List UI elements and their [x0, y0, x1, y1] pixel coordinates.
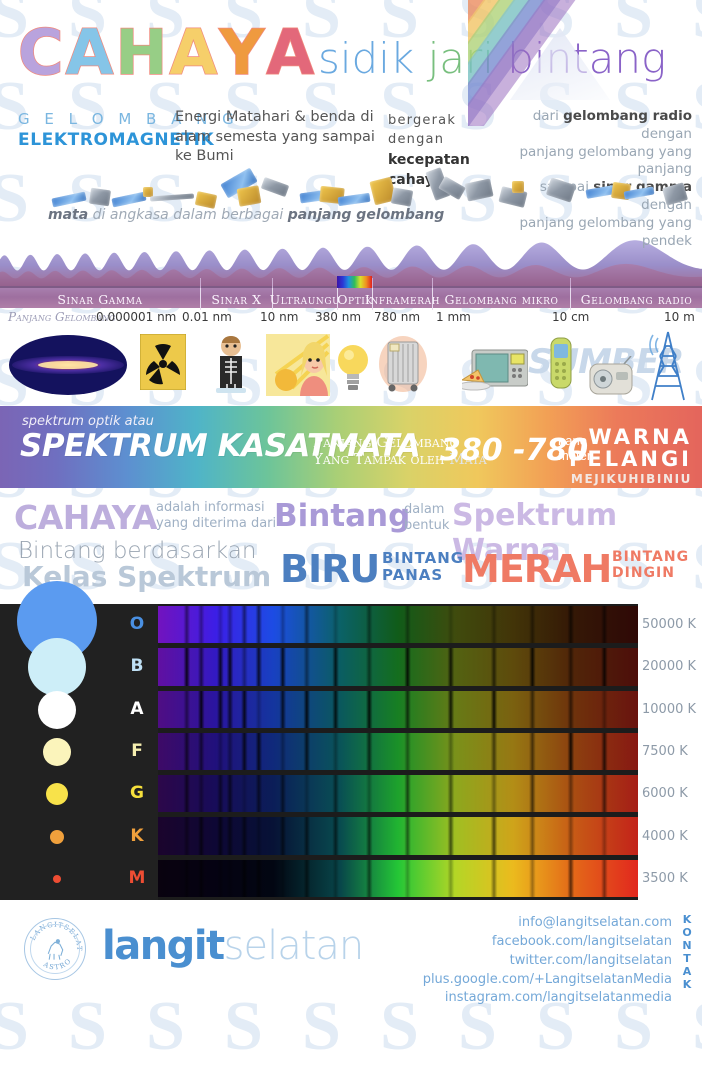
dingin-l2: DINGIN	[612, 566, 689, 582]
absorption-lines	[158, 733, 638, 770]
spectrum-strip-M[interactable]	[158, 860, 638, 897]
mata-di-angkasa-caption: mata di angkasa dalam berbagai panjang g…	[48, 207, 444, 223]
band-tick	[372, 278, 373, 288]
wavelength-scale-row: Panjang Gelombang 0.000001 nm0.01 nm10 n…	[0, 310, 702, 330]
kontak-letter: K	[680, 979, 694, 992]
title-letter-y: Y	[219, 22, 266, 84]
warna-pelangi-label: WARNA PELANGI MEJIKUHIBINIU	[569, 426, 692, 486]
lightbulb-icon	[336, 338, 370, 396]
absorption-lines	[158, 606, 638, 643]
title-letter-a: A	[266, 22, 316, 84]
mata-text: di angkasa dalam berbagai	[88, 207, 288, 223]
kontak-letter: N	[680, 940, 694, 953]
brand-bold: langit	[102, 923, 224, 969]
antenna-tower-icon	[640, 330, 696, 402]
band-ultraungu[interactable]: Ultraungu	[272, 288, 337, 310]
temperature-label-O: 50000 K	[638, 617, 702, 632]
kontak-letter: A	[680, 966, 694, 979]
wavelength-value: 0.000001 nm	[96, 310, 176, 324]
warna-line1: WARNA	[569, 426, 692, 448]
wavelength-value: 10 m	[664, 310, 695, 324]
star-class-G	[46, 783, 68, 805]
temperature-label-K: 4000 K	[638, 829, 702, 844]
energi-matahari-text: Energi Matahari & benda di alam semesta …	[175, 108, 375, 167]
mata-bold1: mata	[48, 207, 88, 223]
class-letter-G: G	[118, 783, 156, 803]
contact-line[interactable]: facebook.com/langitselatan	[423, 933, 672, 952]
spectra-strips	[158, 604, 638, 900]
subtitle-word-sidik: sidik	[318, 34, 428, 83]
title-letter-a: A	[169, 22, 219, 84]
satellite-icon	[464, 178, 493, 201]
svg-text:LANGITSELATAN: LANGITSELATAN	[25, 919, 83, 951]
panas-l1: BINTANG	[382, 550, 464, 567]
radio-b1: gelombang radio	[563, 108, 692, 124]
wavelength-value: 10 nm	[260, 310, 298, 324]
class-letter-B: B	[118, 656, 156, 676]
radio-t2: dengan	[641, 126, 692, 142]
heater-icon	[378, 334, 428, 396]
pg-l1a: Panjang	[313, 433, 376, 451]
dingin-l1: BINTANG	[612, 550, 689, 566]
satellite-icon	[111, 192, 146, 208]
dalam-l1: dalam	[404, 502, 449, 518]
svg-text:ASTRO: ASTRO	[41, 956, 73, 971]
contact-list: info@langitselatan.comfacebook.com/langi…	[423, 914, 672, 1008]
brand-wordmark: langitselatan	[102, 926, 363, 966]
radio-t1: dari	[533, 108, 563, 124]
page-title: CAHAYA	[18, 22, 316, 84]
wavelength-value: 0.01 nm	[182, 310, 232, 324]
temperature-label-F: 7500 K	[638, 744, 702, 759]
temperature-label-A: 10000 K	[638, 702, 702, 717]
class-letter-O: O	[118, 614, 156, 634]
spectrum-strip-B[interactable]	[158, 648, 638, 685]
bergerak-light-text: bergerak dengan	[388, 112, 508, 150]
footer: LANGITSELATAN ASTRO langitselatan info@l…	[0, 900, 702, 1000]
satellite-icon	[391, 187, 413, 206]
wavelength-value: 380 nm	[315, 310, 361, 324]
band-tick	[432, 278, 433, 288]
band-gelombang-radio[interactable]: Gelombang radio	[570, 288, 702, 310]
temperature-label-G: 6000 K	[638, 786, 702, 801]
absorption-lines	[158, 691, 638, 728]
statement-biru: BIRU	[280, 547, 379, 591]
intro-text-row: G E L O M B A N G ELEKTROMAGNETIK Energi…	[0, 100, 702, 172]
statement-bintang-dingin: BINTANG DINGIN	[612, 550, 689, 581]
absorption-lines	[158, 860, 638, 897]
wavelength-value: 1 mm	[436, 310, 471, 324]
statement-merah: MERAH	[462, 547, 611, 591]
kontak-vertical-label: KONTAK	[680, 914, 694, 992]
spektrum-optik-label: spektrum optik atau	[22, 414, 154, 429]
wavelength-value: 10 cm	[552, 310, 589, 324]
statement-bintang: Bintang	[274, 498, 410, 534]
infographic-page: SSSSSSSSSSSSSSSSSSSSSSSSSSSSSSSSSSSSSSSS…	[0, 0, 702, 1000]
title-letter-c: C	[18, 22, 66, 84]
star-class-M	[53, 875, 61, 883]
satellite-icon	[546, 177, 576, 202]
chart-left-panel: OBAFGKM	[0, 604, 158, 900]
em-sources-row: SUMBER	[0, 328, 702, 406]
mejikuhibiniu-label: MEJIKUHIBINIU	[569, 472, 692, 486]
satellite-icon	[512, 181, 524, 193]
warna-line2: PELANGI	[569, 448, 692, 470]
visible-spectrum-banner: spektrum optik atau SPEKTRUM KASATMATA P…	[0, 406, 702, 488]
watermark-letter: S	[302, 992, 341, 1062]
statement-adalah-informasi: adalah informasi yang diterima dari	[156, 500, 276, 533]
kontak-letter: T	[680, 953, 694, 966]
satellite-icon	[89, 188, 111, 207]
temperature-column: 50000 K20000 K10000 K7500 K6000 K4000 K3…	[638, 604, 702, 900]
band-gelombang-mikro[interactable]: Gelombang mikro	[432, 288, 570, 310]
pg-l2a: Yang Tampak oleh	[313, 450, 449, 468]
panas-l2: PANAS	[382, 567, 464, 584]
absorption-lines	[158, 817, 638, 854]
statement-cahaya: CAHAYA	[14, 498, 157, 537]
absorption-lines	[158, 648, 638, 685]
spectral-class-chart: OBAFGKM 50000 K20000 K10000 K7500 K6000 …	[0, 604, 702, 900]
xray-person-icon	[208, 334, 254, 396]
mata-bold2: panjang gelombang	[288, 207, 445, 223]
class-letter-K: K	[118, 826, 156, 846]
satellite-icon	[51, 192, 86, 208]
seal-svg: LANGITSELATAN ASTRO	[25, 919, 85, 979]
satellite-icon	[261, 177, 290, 197]
adalah-l1: adalah informasi	[156, 500, 276, 516]
langitselatan-seal-logo: LANGITSELATAN ASTRO	[24, 918, 86, 980]
contact-line[interactable]: plus.google.com/+LangitselatanMedia	[423, 971, 672, 990]
uv-sun-person-icon	[266, 334, 330, 396]
gamma-sky-map-icon	[8, 334, 128, 396]
microwave-oven-icon	[462, 340, 528, 394]
star-class-F	[43, 738, 71, 766]
temperature-label-B: 20000 K	[638, 659, 702, 674]
contact-line[interactable]: twitter.com/langitselatan	[423, 952, 672, 971]
spectrum-strip-A[interactable]	[158, 691, 638, 728]
watermark-letter: S	[380, 992, 419, 1062]
class-letter-F: F	[118, 741, 156, 761]
band-tick	[272, 278, 273, 288]
watermark-letter: S	[0, 992, 29, 1062]
optik-rainbow-strip	[337, 276, 372, 288]
band-inframerah[interactable]: Inframerah	[372, 288, 432, 310]
watermark-letter: S	[224, 992, 263, 1062]
star-class-B	[28, 638, 86, 696]
spectrum-strip-F[interactable]	[158, 733, 638, 770]
band-sinar-gamma[interactable]: Sinar Gamma	[0, 288, 200, 310]
statement-dalam-bentuk: dalam bentuk	[404, 502, 449, 535]
contact-line[interactable]: info@langitselatan.com	[423, 914, 672, 933]
star-size-column	[0, 604, 115, 900]
wavelength-value: 780 nm	[374, 310, 420, 324]
class-letter-A: A	[118, 699, 156, 719]
star-class-A	[38, 691, 76, 729]
satellite-icon	[662, 182, 688, 205]
watermark-letter: S	[68, 992, 107, 1062]
brand-light: selatan	[224, 923, 364, 969]
band-sinar-x[interactable]: Sinar X	[200, 288, 272, 310]
statements-section: CAHAYA adalah informasi yang diterima da…	[0, 492, 702, 598]
satellite-icon	[237, 185, 262, 207]
contact-line[interactable]: instagram.com/langitselatanmedia	[423, 989, 672, 1008]
temperature-label-M: 3500 K	[638, 871, 702, 886]
radiation-symbol-icon	[140, 334, 186, 390]
band-tick	[570, 278, 571, 288]
watermark-letter: S	[692, 992, 702, 1062]
title-letter-a: A	[66, 22, 116, 84]
class-letter-M: M	[118, 868, 156, 888]
adalah-l2: yang diterima dari	[156, 516, 276, 532]
dalam-l2: bentuk	[404, 518, 449, 534]
star-class-K	[50, 830, 64, 844]
em-spectrum-band-bar: Sinar GammaSinar XUltraunguOptikInframer…	[0, 286, 702, 308]
absorption-lines	[158, 775, 638, 812]
satellites-row: mata di angkasa dalam berbagai panjang g…	[0, 165, 702, 227]
spectrum-strip-G[interactable]	[158, 775, 638, 812]
band-tick	[200, 278, 201, 288]
header: CAHAYA sidik jari bintang	[0, 0, 702, 100]
spectrum-strip-O[interactable]	[158, 606, 638, 643]
kontak-letter: O	[680, 927, 694, 940]
statement-bintang-panas: BINTANG PANAS	[382, 550, 464, 584]
spectrum-strip-K[interactable]	[158, 817, 638, 854]
mobile-phone-icon	[548, 336, 574, 390]
title-letter-h: H	[116, 22, 170, 84]
watermark-letter: S	[146, 992, 185, 1062]
satellite-icon	[150, 193, 194, 201]
radio-receiver-icon	[588, 356, 634, 396]
